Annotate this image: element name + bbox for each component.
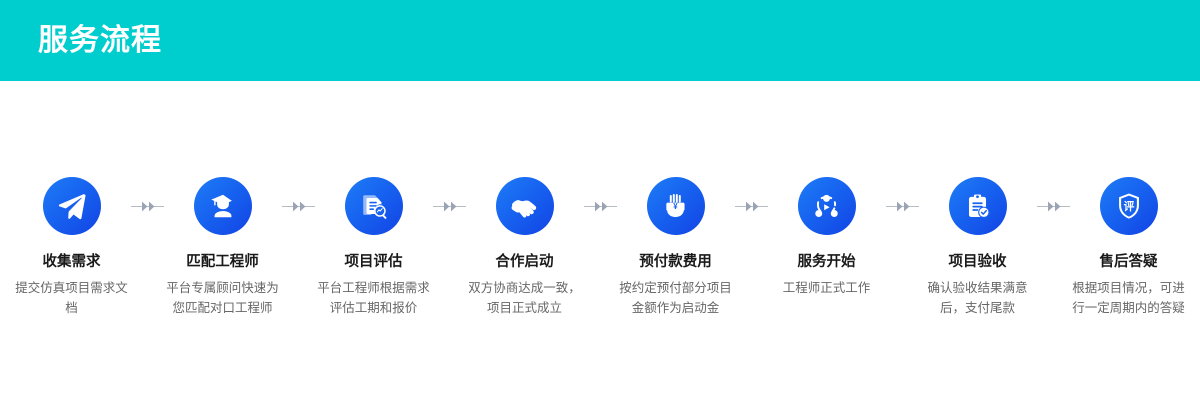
step-3-icon-badge [345, 177, 403, 235]
step-7-title: 项目验收 [949, 254, 1007, 271]
step-7-description: 确认验收结果满意后，支付尾款 [919, 279, 1037, 318]
graduate-person-icon [208, 191, 238, 221]
connector-3-4 [433, 177, 466, 235]
flow-step-4[interactable]: 合作启动 双方协商达成一致，项目正式成立 [466, 177, 584, 318]
flow-step-5[interactable]: ¥ 预付款费用 按约定预付部分项目金额作为启动金 [617, 177, 735, 318]
hand-money-yuan-icon: ¥ [661, 191, 691, 221]
network-play-icon [811, 191, 842, 222]
shield-review-icon: 评 [1114, 191, 1144, 221]
step-3-description: 平台工程师根据需求评估工期和报价 [315, 279, 433, 318]
step-2-icon-badge [194, 177, 252, 235]
double-chevron-right-icon [444, 201, 460, 212]
flow-step-2[interactable]: 匹配工程师 平台专属顾问快速为您匹配对口工程师 [164, 177, 282, 318]
step-4-description: 双方协商达成一致，项目正式成立 [466, 279, 584, 318]
flow-step-3[interactable]: 项目评估 平台工程师根据需求评估工期和报价 [315, 177, 433, 318]
step-5-title: 预付款费用 [639, 254, 712, 271]
step-8-icon-badge: 评 [1100, 177, 1158, 235]
step-2-title: 匹配工程师 [186, 254, 259, 271]
connector-1-2 [131, 177, 164, 235]
step-1-description: 提交仿真项目需求文档 [13, 279, 131, 318]
step-4-icon-badge [496, 177, 554, 235]
page-title: 服务流程 [38, 26, 162, 56]
step-1-title: 收集需求 [43, 254, 101, 271]
flow-step-8[interactable]: 评 售后答疑 根据项目情况，可进行一定周期内的答疑 [1070, 177, 1188, 318]
handshake-icon [509, 191, 540, 222]
flow-step-7[interactable]: 项目验收 确认验收结果满意后，支付尾款 [919, 177, 1037, 318]
step-8-description: 根据项目情况，可进行一定周期内的答疑 [1070, 279, 1188, 318]
connector-2-3 [282, 177, 315, 235]
step-5-icon-badge: ¥ [647, 177, 705, 235]
step-6-icon-badge [798, 177, 856, 235]
document-analysis-icon [359, 191, 389, 221]
page-header: 服务流程 [0, 0, 1200, 81]
double-chevron-right-icon [897, 201, 913, 212]
connector-6-7 [886, 177, 919, 235]
flow-step-6[interactable]: 服务开始 工程师正式工作 [768, 177, 886, 299]
clipboard-check-icon [963, 192, 992, 221]
double-chevron-right-icon [142, 201, 158, 212]
currency-glyph: ¥ [673, 202, 678, 211]
step-4-title: 合作启动 [496, 254, 554, 271]
service-flow-diagram: 收集需求 提交仿真项目需求文档 匹配工程 [0, 81, 1200, 400]
double-chevron-right-icon [746, 201, 762, 212]
connector-7-8 [1037, 177, 1070, 235]
connector-5-6 [735, 177, 768, 235]
double-chevron-right-icon [293, 201, 309, 212]
step-2-description: 平台专属顾问快速为您匹配对口工程师 [164, 279, 282, 318]
double-chevron-right-icon [1048, 201, 1064, 212]
shield-glyph: 评 [1123, 200, 1134, 213]
step-5-description: 按约定预付部分项目金额作为启动金 [617, 279, 735, 318]
step-7-icon-badge [949, 177, 1007, 235]
step-3-title: 项目评估 [345, 254, 403, 271]
paper-plane-icon [57, 191, 87, 221]
step-1-icon-badge [43, 177, 101, 235]
step-8-title: 售后答疑 [1100, 254, 1158, 271]
flow-steps-row: 收集需求 提交仿真项目需求文档 匹配工程 [0, 177, 1200, 318]
step-6-title: 服务开始 [798, 254, 856, 271]
flow-step-1[interactable]: 收集需求 提交仿真项目需求文档 [13, 177, 131, 318]
double-chevron-right-icon [595, 201, 611, 212]
connector-4-5 [584, 177, 617, 235]
step-6-description: 工程师正式工作 [768, 279, 886, 298]
